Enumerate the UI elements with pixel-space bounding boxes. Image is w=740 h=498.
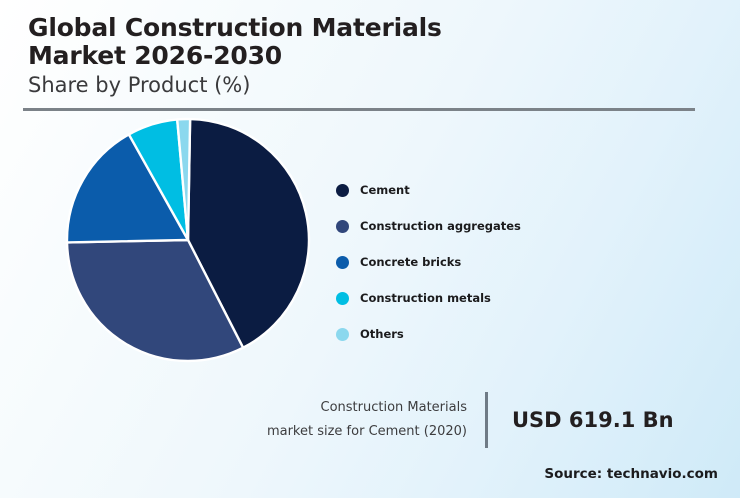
legend-item[interactable]: Construction aggregates <box>336 208 606 244</box>
legend-swatch-icon <box>336 220 349 233</box>
chart-legend: CementConstruction aggregatesConcrete br… <box>336 172 606 352</box>
stat-caption: Construction Materials market size for C… <box>262 396 485 444</box>
legend-swatch-icon <box>336 328 349 341</box>
footer-statistic: Construction Materials market size for C… <box>262 392 702 448</box>
legend-item[interactable]: Others <box>336 316 606 352</box>
source-attribution: Source: technavio.com <box>544 466 718 482</box>
legend-item[interactable]: Concrete bricks <box>336 244 606 280</box>
legend-swatch-icon <box>336 292 349 305</box>
legend-item-label: Cement <box>360 183 410 197</box>
page-title: Global Construction Materials Market 202… <box>28 14 708 70</box>
legend-swatch-icon <box>336 184 349 197</box>
page-subtitle: Share by Product (%) <box>28 72 708 98</box>
legend-item[interactable]: Construction metals <box>336 280 606 316</box>
chart-header: Global Construction Materials Market 202… <box>28 14 708 98</box>
legend-item[interactable]: Cement <box>336 172 606 208</box>
chart-page: Global Construction Materials Market 202… <box>0 0 740 498</box>
legend-item-label: Construction metals <box>360 291 491 305</box>
legend-swatch-icon <box>336 256 349 269</box>
stat-value: USD 619.1 Bn <box>488 408 674 432</box>
legend-item-label: Construction aggregates <box>360 219 521 233</box>
header-divider <box>23 108 695 111</box>
legend-item-label: Concrete bricks <box>360 255 461 269</box>
pie-chart <box>64 116 312 364</box>
legend-item-label: Others <box>360 327 404 341</box>
pie-chart-svg <box>64 116 312 364</box>
